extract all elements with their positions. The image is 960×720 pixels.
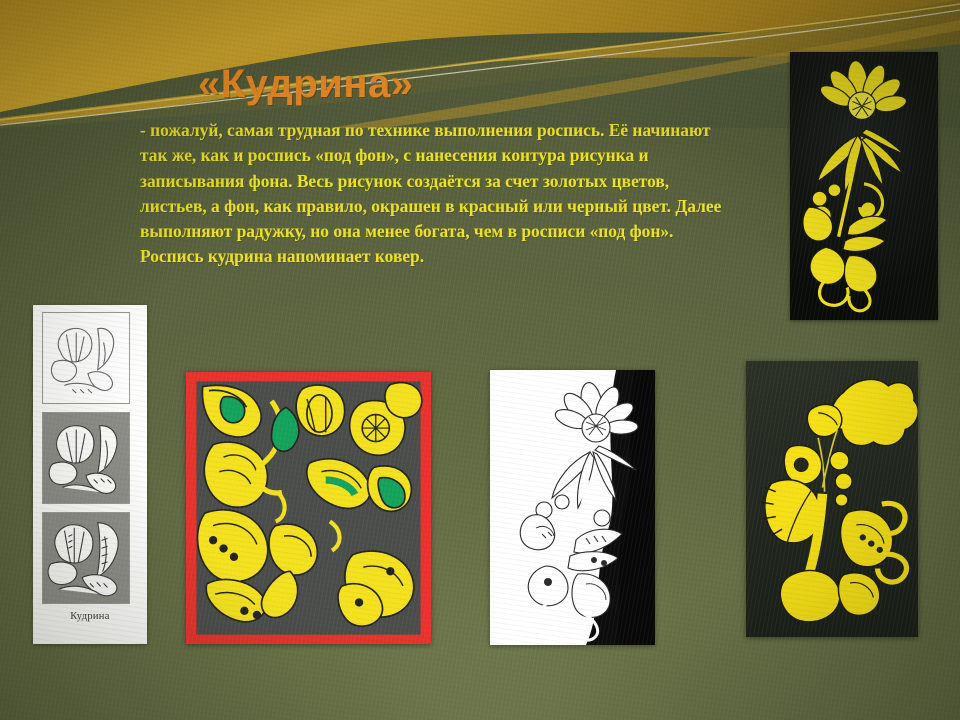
sketch-rainbow-artwork — [43, 513, 129, 603]
ink-flower-scroll-artwork — [490, 370, 655, 645]
image-sketch-series-canvas: Кудрина — [33, 305, 147, 644]
yellow-flower-leaf-artwork — [746, 361, 918, 637]
sketch-tile-2 — [42, 412, 130, 504]
image-flower-on-dark-canvas — [746, 361, 918, 637]
image-flower-on-dark — [746, 361, 918, 637]
slide: «Кудрина» - пожалуй, самая трудная по те… — [0, 0, 960, 720]
sketch-tile-3 — [42, 512, 130, 604]
gold-flower-scroll-artwork — [790, 52, 938, 320]
sketch-outline-artwork — [43, 313, 129, 403]
page-title: «Кудрина» — [198, 62, 413, 107]
image-flower-on-black-canvas — [790, 52, 938, 320]
image-red-khokhloma — [186, 372, 431, 644]
image-flower-on-black — [790, 52, 938, 320]
red-khokhloma-artwork — [186, 372, 431, 644]
body-paragraph: - пожалуй, самая трудная по технике выпо… — [140, 118, 740, 270]
sketch-shaded-artwork — [43, 413, 129, 503]
image-sketch-series: Кудрина — [33, 305, 147, 644]
image-red-khokhloma-canvas — [186, 372, 431, 644]
image-bw-drawing-canvas — [490, 370, 655, 645]
sketch-tile-1 — [42, 312, 130, 404]
image-bw-drawing — [490, 370, 655, 645]
sketch-caption: Кудрина — [33, 611, 147, 622]
